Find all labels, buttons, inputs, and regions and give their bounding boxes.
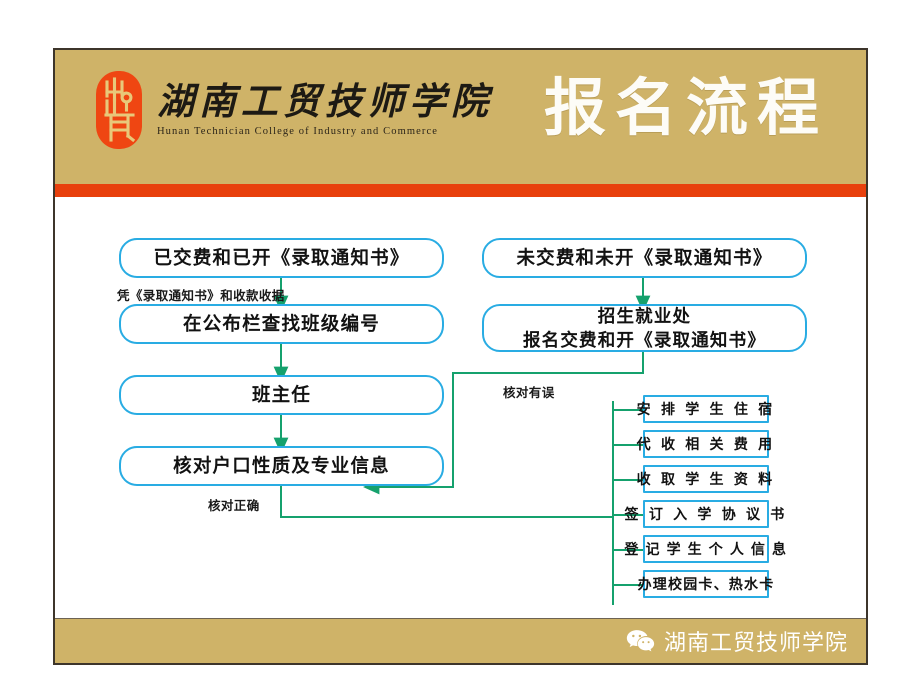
footer-band: 湖南工贸技师学院 [55,618,866,663]
school-logo-block: 湖南工贸技师学院 Hunan Technician College of Ind… [95,70,493,150]
school-name-cn: 湖南工贸技师学院 [157,83,493,123]
footer-brand: 湖南工贸技师学院 [626,625,848,657]
task-box-4[interactable]: 签 订 入 学 协 议 书 [643,500,769,528]
node-verify-info[interactable]: 核对户口性质及专业信息 [119,446,444,486]
task-box-5[interactable]: 登 记 学 生 个 人 信 息 [643,535,769,563]
task-box-1[interactable]: 安 排 学 生 住 宿 [643,395,769,423]
node-admissions-office[interactable]: 招生就业处 报名交费和开《录取通知书》 [482,304,807,352]
task-box-3[interactable]: 收 取 学 生 资 料 [643,465,769,493]
page-title: 报名流程 [544,78,828,140]
node-admissions-office-line1: 招生就业处 [598,305,692,328]
footer-text: 湖南工贸技师学院 [664,625,848,657]
header-band: 湖南工贸技师学院 Hunan Technician College of Ind… [55,50,866,184]
node-class-teacher[interactable]: 班主任 [119,375,444,415]
task-box-6[interactable]: 办理校园卡、热水卡 [643,570,769,598]
label-verify-error: 核对有误 [503,382,555,401]
poster-frame: 湖南工贸技师学院 Hunan Technician College of Ind… [53,48,868,665]
school-name-en: Hunan Technician College of Industry and… [157,126,493,137]
flowchart: 已交费和已开《录取通知书》 在公布栏查找班级编号 班主任 核对户口性质及专业信息… [55,197,866,622]
orange-divider [55,184,866,197]
school-name-group: 湖南工贸技师学院 Hunan Technician College of Ind… [157,83,493,137]
label-with-notice-receipt: 凭《录取通知书》和收款收据 [117,285,285,304]
seal-icon [95,70,143,150]
node-unpaid-notice[interactable]: 未交费和未开《录取通知书》 [482,238,807,278]
node-find-class-number[interactable]: 在公布栏查找班级编号 [119,304,444,344]
node-admissions-office-line2: 报名交费和开《录取通知书》 [523,329,766,352]
task-box-2[interactable]: 代 收 相 关 费 用 [643,430,769,458]
wechat-icon [626,629,655,654]
node-paid-notice[interactable]: 已交费和已开《录取通知书》 [119,238,444,278]
label-verify-correct: 核对正确 [208,495,260,514]
